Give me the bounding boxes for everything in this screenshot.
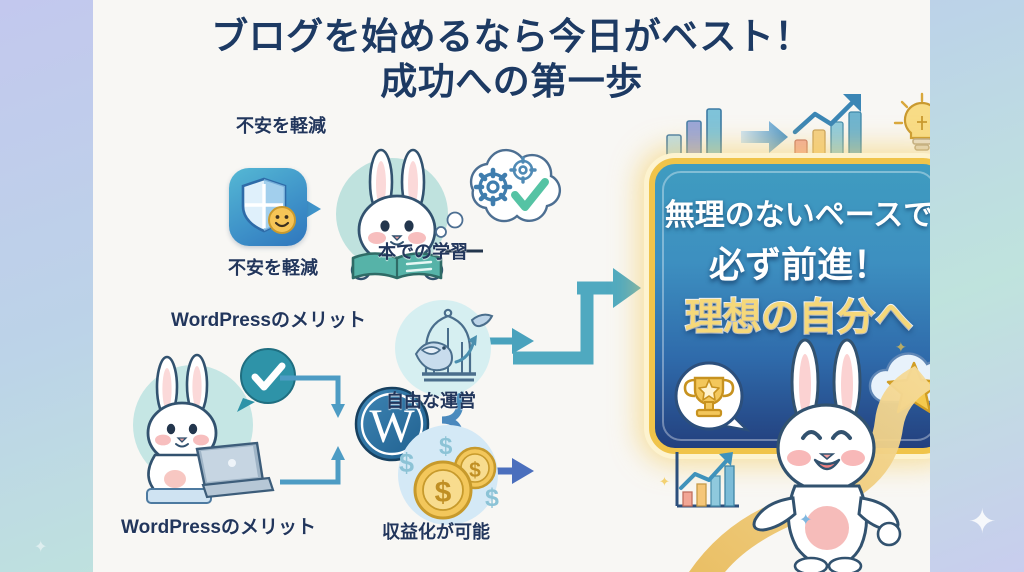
rabbit-cheering-icon [733,338,923,572]
label-free-operation: 自由な運営 [386,387,476,413]
lightbulb-icon [893,92,930,156]
svg-text:$: $ [469,459,481,482]
page-title: ブログを始めるなら今日がベスト！ 成功への第一歩 [93,14,930,104]
label-book-learning: 本での学習 [378,238,468,264]
sparkle-icon: ✦ [929,456,930,482]
bar-chart-icon [663,105,735,157]
label-wordpress-merit-bottom: WordPressのメリット [121,512,316,539]
sparkle-icon: ✦ [799,510,812,530]
arrow-to-wordpress-top [278,372,358,424]
shield-tile [229,168,307,246]
label-wordpress-merit-top: WordPressのメリット [171,305,366,332]
bird-escaping-cage-icon [398,302,498,394]
growth-chart-arrow-icon [793,92,879,158]
label-anxiety-reduction-left: 不安を軽減 [228,254,318,280]
sparkle-icon: ✦ [34,540,47,556]
arrow-to-wordpress-bottom [278,440,358,490]
svg-text:$: $ [399,448,414,478]
svg-text:$: $ [485,484,499,512]
label-monetization: 収益化が可能 [382,518,490,544]
gold-coins-dollar-icon: $ $ $ $ $ [393,420,508,530]
gears-checkmark-cloud-icon [431,140,565,250]
label-anxiety-reduction-top: 不安を軽減 [236,112,326,138]
arrow-right-up-icon [513,248,643,370]
sparkle-icon: ✦ [968,505,997,539]
shield-smiley-icon [240,176,298,236]
board-line-2: 必ず前進！ [655,236,930,288]
infographic-canvas: ブログを始めるなら今日がベスト！ 成功への第一歩 [93,0,930,572]
svg-text:$: $ [435,476,452,509]
svg-text:$: $ [439,433,453,460]
arrow-right-icon [741,120,789,154]
sparkle-icon: ✦ [659,474,670,490]
board-line-1: 無理のないペースで [655,190,930,234]
title-line-1: ブログを始めるなら今日がベスト！ [93,14,930,59]
